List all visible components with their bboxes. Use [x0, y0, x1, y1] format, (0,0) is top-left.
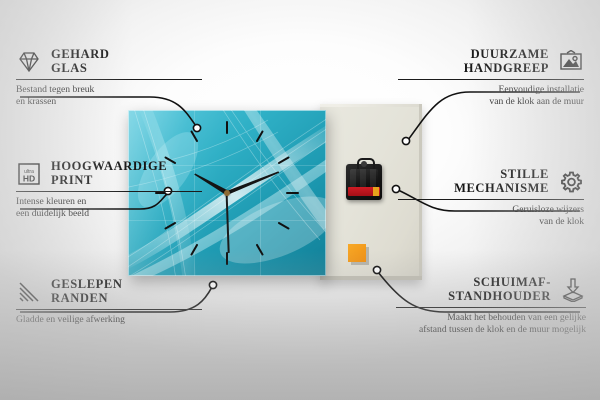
- feature-desc-line2: van de klok aan de muur: [398, 96, 584, 108]
- feature-divider: [16, 79, 202, 80]
- foam-spacer-pad: [348, 244, 366, 262]
- movement-shaft: [361, 161, 367, 167]
- feature-header: GESLEPEN RANDEN: [16, 278, 202, 305]
- feature-title-line2: GLAS: [51, 62, 109, 76]
- feature-desc-line2: afstand tussen de klok en de muur mogeli…: [396, 324, 586, 336]
- feature-gehard-glas: GEHARD GLAS Bestand tegen breuk en krass…: [16, 48, 202, 107]
- feature-description: Maakt het behouden van een gelijke afsta…: [396, 312, 586, 335]
- feature-title-line2: PRINT: [51, 174, 167, 188]
- feature-title: GEHARD GLAS: [51, 48, 109, 75]
- feature-desc-line1: Intense kleuren en: [16, 196, 202, 208]
- feature-divider: [398, 79, 584, 80]
- feature-desc-line1: Geruisloze wijzers: [398, 204, 584, 216]
- feature-hoogwaardige-print: ultra HD HOOGWAARDIGE PRINT Intense kleu…: [16, 160, 202, 219]
- feature-title-line1: SCHUIMAF-: [448, 276, 551, 290]
- feature-title-line2: RANDEN: [51, 292, 123, 306]
- movement-housing-detail: [350, 169, 378, 187]
- feature-title-line2: STANDHOUDER: [448, 290, 551, 304]
- feature-title-line1: DUURZAME: [464, 48, 549, 62]
- press-down-pad-icon: [560, 278, 586, 302]
- feature-description: Eenvoudige installatie van de klok aan d…: [398, 84, 584, 107]
- feature-divider: [396, 307, 586, 308]
- feature-header: SCHUIMAF- STANDHOUDER: [396, 276, 586, 303]
- connector-dot-randen: [209, 281, 216, 288]
- feature-title: DUURZAME HANDGREEP: [464, 48, 549, 75]
- feature-desc-line2: en krassen: [16, 96, 202, 108]
- diagonal-lines-icon: [16, 280, 42, 304]
- feature-geslepen-randen: GESLEPEN RANDEN Gladde en veilige afwerk…: [16, 278, 202, 326]
- feature-desc-line2: een duidelijk beeld: [16, 208, 202, 220]
- feature-title-line1: HOOGWAARDIGE: [51, 160, 167, 174]
- feature-desc-line1: Eenvoudige installatie: [398, 84, 584, 96]
- feature-title-line2: MECHANISME: [454, 182, 549, 196]
- feature-header: ultra HD HOOGWAARDIGE PRINT: [16, 160, 202, 187]
- feature-description: Geruisloze wijzers van de klok: [398, 204, 584, 227]
- movement-battery-label: [348, 187, 380, 196]
- feature-header: GEHARD GLAS: [16, 48, 202, 75]
- feature-title-line2: HANDGREEP: [464, 62, 549, 76]
- feature-header: STILLE MECHANISME: [398, 168, 584, 195]
- quartz-movement: [346, 164, 382, 200]
- feature-title-line1: GESLEPEN: [51, 278, 123, 292]
- feature-title-line1: GEHARD: [51, 48, 109, 62]
- feature-description: Intense kleuren en een duidelijk beeld: [16, 196, 202, 219]
- feature-divider: [16, 191, 202, 192]
- svg-text:HD: HD: [23, 173, 35, 183]
- feature-title-line1: STILLE: [454, 168, 549, 182]
- feature-desc-line2: van de klok: [398, 216, 584, 228]
- feature-title: HOOGWAARDIGE PRINT: [51, 160, 167, 187]
- feature-title: GESLEPEN RANDEN: [51, 278, 123, 305]
- feature-divider: [16, 309, 202, 310]
- feature-header: DUURZAME HANDGREEP: [398, 48, 584, 75]
- diamond-icon: [16, 50, 42, 74]
- gear-icon: [558, 170, 584, 194]
- feature-description: Gladde en veilige afwerking: [16, 314, 202, 326]
- feature-stille-mechanisme: STILLE MECHANISME Geruisloze wijzers van…: [398, 168, 584, 227]
- infographic-stage: GEHARD GLAS Bestand tegen breuk en krass…: [0, 0, 600, 400]
- feature-desc-line1: Bestand tegen breuk: [16, 84, 202, 96]
- feature-schuimafstandhouder: SCHUIMAF- STANDHOUDER Maakt het behouden…: [396, 276, 586, 335]
- feature-title: SCHUIMAF- STANDHOUDER: [448, 276, 551, 303]
- hanging-picture-icon: [558, 50, 584, 74]
- feature-duurzame-handgreep: DUURZAME HANDGREEP Eenvoudige installati…: [398, 48, 584, 107]
- feature-divider: [398, 199, 584, 200]
- ultra-hd-icon: ultra HD: [16, 162, 42, 186]
- feature-desc-line1: Maakt het behouden van een gelijke: [396, 312, 586, 324]
- feature-desc-line1: Gladde en veilige afwerking: [16, 314, 202, 326]
- feature-description: Bestand tegen breuk en krassen: [16, 84, 202, 107]
- feature-title: STILLE MECHANISME: [454, 168, 549, 195]
